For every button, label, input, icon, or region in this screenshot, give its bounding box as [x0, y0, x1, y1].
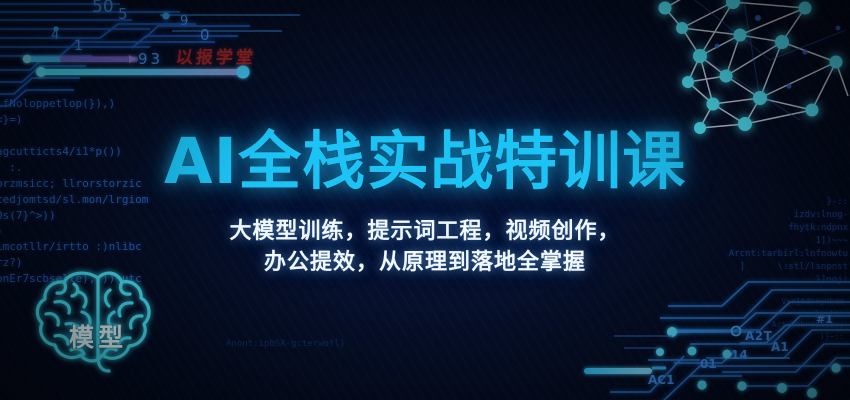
subtitle-line-1: 大模型训练，提示词工程，视频创作，: [0, 216, 850, 247]
page-title: AI全栈实战特训课: [0, 130, 850, 193]
brain-badge: 模型: [22, 262, 174, 382]
brain-outline-icon: [22, 262, 174, 382]
poster-canvas: 50 5 0 9 4 1 93: [0, 0, 850, 400]
